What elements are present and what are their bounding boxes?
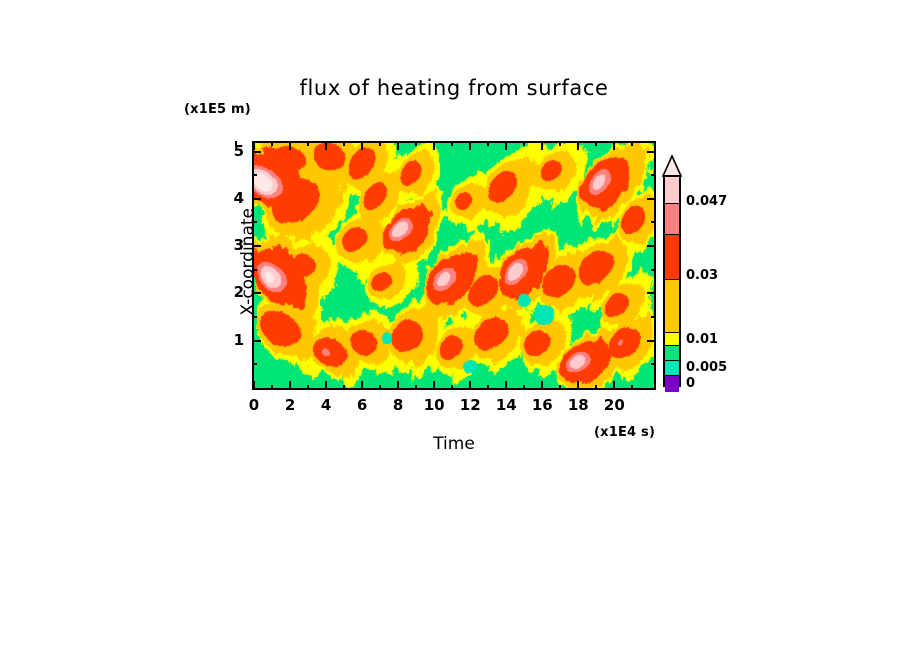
y-axis-unit-label: (x1E5 m): [184, 102, 251, 117]
colorbar-band-0.03-0.0375: [665, 203, 679, 234]
x-tick-major-bottom: [289, 381, 291, 390]
x-tick-major-bottom: [505, 381, 507, 390]
y-tick-label: 5: [214, 142, 244, 160]
x-tick-label: 8: [378, 396, 418, 414]
x-tick-major: [469, 141, 471, 150]
y-tick-major-right: [647, 198, 656, 200]
x-tick-label: 4: [306, 396, 346, 414]
x-tick-minor-bottom: [487, 385, 489, 390]
y-tick-minor-right: [651, 363, 656, 365]
y-tick-major: [252, 198, 261, 200]
y-tick-major-right: [647, 340, 656, 342]
colorbar-band-0.0375-0.047: [665, 177, 679, 203]
y-tick-major: [252, 245, 261, 247]
x-tick-major: [577, 141, 579, 150]
heatmap-field: [254, 143, 654, 388]
colorbar-tick-label: 0.005: [686, 360, 727, 375]
x-tick-minor: [271, 141, 273, 146]
y-tick-minor: [252, 316, 257, 318]
x-tick-major-bottom: [361, 381, 363, 390]
x-tick-major-bottom: [541, 381, 543, 390]
x-tick-label: 18: [558, 396, 598, 414]
colorbar-tick-label: 0.03: [686, 268, 718, 283]
x-tick-minor-bottom: [415, 385, 417, 390]
y-tick-label: 3: [214, 236, 244, 254]
x-tick-major: [289, 141, 291, 150]
y-tick-major-right: [647, 245, 656, 247]
y-tick-label: 1: [214, 331, 244, 349]
y-tick-major-right: [647, 292, 656, 294]
x-tick-label: 12: [450, 396, 490, 414]
y-tick-minor: [252, 269, 257, 271]
x-tick-minor-bottom: [595, 385, 597, 390]
x-tick-minor-bottom: [451, 385, 453, 390]
colorbar-band-0.0025-0.005: [665, 360, 679, 375]
x-tick-label: 10: [414, 396, 454, 414]
colorbar-tick-label: 0: [686, 376, 695, 391]
x-tick-major-bottom: [577, 381, 579, 390]
y-tick-label: 2: [214, 283, 244, 301]
colorbar-arrow-icon: [661, 155, 683, 177]
x-tick-minor: [451, 141, 453, 146]
x-tick-major-bottom: [433, 381, 435, 390]
y-tick-label: 4: [214, 189, 244, 207]
page-title: flux of heating from surface: [252, 76, 656, 100]
x-tick-minor-bottom: [379, 385, 381, 390]
colorbar-band-0.005-0.0075: [665, 345, 679, 360]
x-tick-minor-bottom: [271, 385, 273, 390]
colorbar: [663, 175, 681, 387]
x-tick-label: 2: [270, 396, 310, 414]
y-tick-major: [252, 340, 261, 342]
y-tick-minor-right: [651, 269, 656, 271]
plot-area: [252, 141, 656, 390]
y-tick-major: [252, 292, 261, 294]
y-tick-major-right: [647, 151, 656, 153]
x-tick-major-bottom: [253, 381, 255, 390]
y-tick-major: [252, 151, 261, 153]
colorbar-band-0.015-0.03: [665, 234, 679, 279]
x-tick-label: 16: [522, 396, 562, 414]
y-tick-minor-right: [651, 316, 656, 318]
x-tick-major: [433, 141, 435, 150]
x-tick-major: [397, 141, 399, 150]
x-tick-label: 0: [234, 396, 274, 414]
x-tick-label: 6: [342, 396, 382, 414]
y-tick-minor-right: [651, 174, 656, 176]
x-tick-major-bottom: [325, 381, 327, 390]
x-tick-minor: [379, 141, 381, 146]
x-tick-major: [613, 141, 615, 150]
x-axis-title: Time: [252, 434, 656, 454]
x-tick-minor: [559, 141, 561, 146]
x-tick-major: [541, 141, 543, 150]
x-tick-minor-bottom: [631, 385, 633, 390]
y-tick-minor: [252, 363, 257, 365]
x-tick-major: [325, 141, 327, 150]
x-tick-minor: [415, 141, 417, 146]
x-tick-minor-bottom: [343, 385, 345, 390]
x-tick-minor: [631, 141, 633, 146]
x-tick-minor-bottom: [559, 385, 561, 390]
colorbar-tick-label: 0.01: [686, 332, 718, 347]
y-tick-minor-right: [651, 221, 656, 223]
x-tick-major-bottom: [397, 381, 399, 390]
y-tick-minor: [252, 174, 257, 176]
x-tick-minor: [343, 141, 345, 146]
colorbar-band-below-0.0025: [665, 375, 679, 392]
colorbar-tick-label: 0.047: [686, 194, 727, 209]
x-tick-major: [361, 141, 363, 150]
x-tick-minor-bottom: [523, 385, 525, 390]
x-tick-major: [505, 141, 507, 150]
x-tick-label: 14: [486, 396, 526, 414]
colorbar-band-0.0075-0.01: [665, 332, 679, 345]
x-tick-label: 20: [594, 396, 634, 414]
figure-canvas: flux of heating from surface (x1E5 m) (x…: [0, 0, 904, 654]
x-tick-minor: [523, 141, 525, 146]
x-tick-major-bottom: [469, 381, 471, 390]
x-tick-minor: [307, 141, 309, 146]
x-tick-major: [253, 141, 255, 150]
x-tick-major-bottom: [613, 381, 615, 390]
x-tick-minor: [487, 141, 489, 146]
x-tick-minor-bottom: [307, 385, 309, 390]
colorbar-band-0.01-0.015: [665, 279, 679, 332]
y-tick-minor: [252, 221, 257, 223]
x-tick-minor: [595, 141, 597, 146]
